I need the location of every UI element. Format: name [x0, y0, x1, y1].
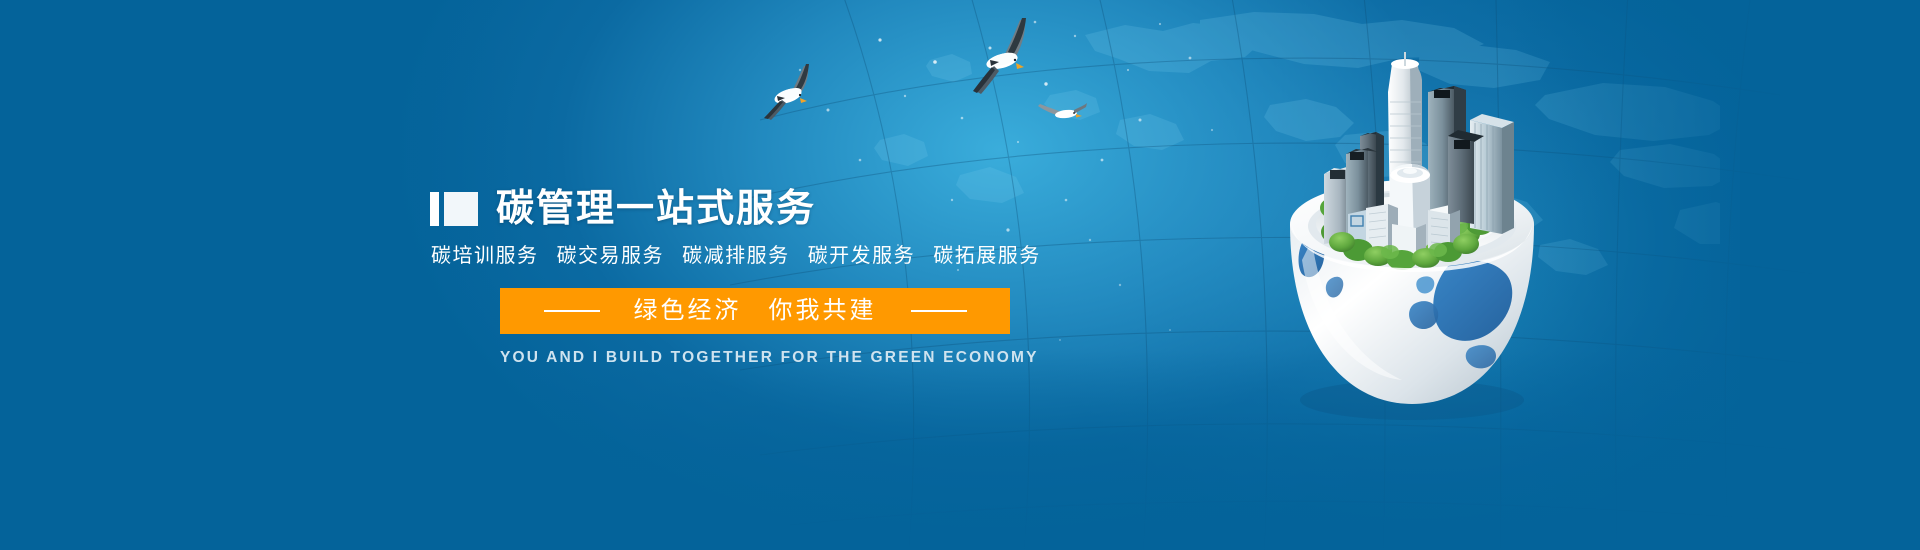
seagull-3-icon	[1036, 96, 1088, 130]
service-item-4: 碳开发服务	[808, 245, 916, 267]
service-item-2: 碳交易服务	[557, 245, 665, 267]
hero-banner: 碳管理一站式服务 碳培训服务 碳交易服务 碳减排服务 碳开发服务 碳拓展服务 绿…	[0, 0, 1920, 550]
bar-square-mark-icon	[430, 192, 478, 226]
service-list: 碳培训服务 碳交易服务 碳减排服务 碳开发服务 碳拓展服务	[430, 242, 1190, 270]
service-item-3: 碳减排服务	[682, 245, 790, 267]
slogan-right-rule-icon	[911, 310, 967, 312]
banner-copy: 碳管理一站式服务 碳培训服务 碳交易服务 碳减排服务 碳开发服务 碳拓展服务 绿…	[430, 186, 1190, 367]
background-bottom-fade	[0, 350, 1920, 550]
service-item-1: 碳培训服务	[431, 245, 539, 267]
city-skyline	[1324, 52, 1514, 260]
service-item-5: 碳拓展服务	[933, 245, 1041, 267]
english-tagline: YOU AND I BUILD TOGETHER FOR THE GREEN E…	[500, 349, 1010, 367]
page-title: 碳管理一站式服务	[496, 187, 816, 231]
globe-city-illustration	[1262, 28, 1562, 428]
slogan-left-rule-icon	[544, 310, 600, 312]
banner-title-row: 碳管理一站式服务	[430, 186, 1190, 232]
slogan-banner[interactable]: 绿色经济 你我共建	[500, 288, 1010, 334]
seagull-1-icon	[760, 58, 830, 128]
slogan-text: 绿色经济 你我共建	[634, 288, 877, 334]
seagull-2-icon	[968, 14, 1048, 106]
